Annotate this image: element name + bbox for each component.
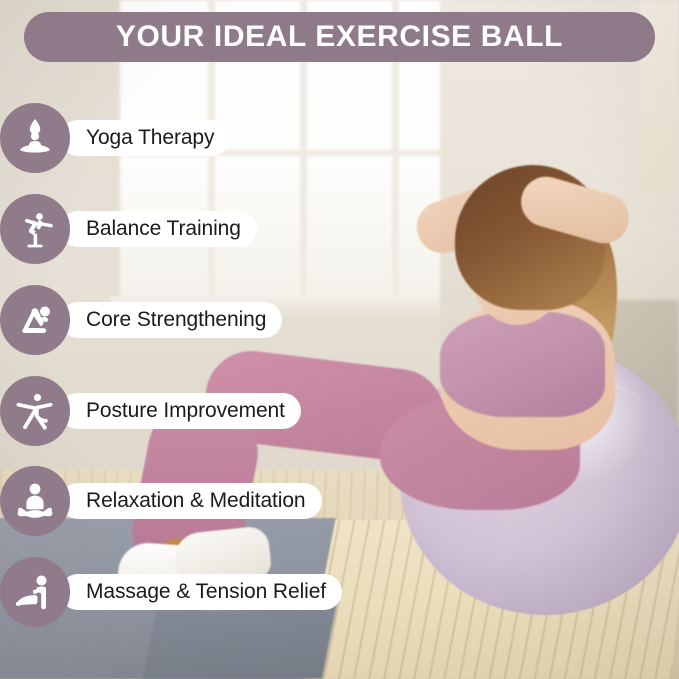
benefit-label: Relaxation & Meditation (86, 489, 306, 513)
benefit-label-pill: Massage & Tension Relief (60, 574, 342, 610)
page-title-banner: YOUR IDEAL EXERCISE BALL (24, 12, 655, 62)
dancer-balance-pose-icon (0, 194, 70, 264)
benefit-row-massage-tension-relief[interactable]: Massage & Tension Relief (0, 557, 342, 627)
benefit-row-relaxation-meditation[interactable]: Relaxation & Meditation (0, 466, 322, 536)
benefit-row-yoga-therapy[interactable]: Yoga Therapy (0, 103, 230, 173)
benefit-label-pill: Yoga Therapy (60, 120, 230, 156)
infographic-canvas: YOUR IDEAL EXERCISE BALL Yoga Therapy (0, 0, 679, 679)
benefit-label: Massage & Tension Relief (86, 580, 326, 604)
sit-up-crunch-icon (0, 285, 70, 355)
benefit-label: Posture Improvement (86, 399, 285, 423)
page-title: YOUR IDEAL EXERCISE BALL (116, 20, 563, 54)
benefit-label: Balance Training (86, 217, 241, 241)
benefit-label: Yoga Therapy (86, 126, 214, 150)
benefit-row-core-strengthening[interactable]: Core Strengthening (0, 285, 282, 355)
benefit-label-pill: Balance Training (60, 211, 257, 247)
benefit-label-pill: Posture Improvement (60, 393, 301, 429)
benefit-label: Core Strengthening (86, 308, 266, 332)
massage-therapy-icon (0, 557, 70, 627)
lotus-pose-icon (0, 103, 70, 173)
meditation-seated-icon (0, 466, 70, 536)
benefit-label-pill: Relaxation & Meditation (60, 483, 322, 519)
benefit-label-pill: Core Strengthening (60, 302, 282, 338)
benefit-row-balance-training[interactable]: Balance Training (0, 194, 257, 264)
warrior-pose-icon (0, 376, 70, 446)
benefit-row-posture-improvement[interactable]: Posture Improvement (0, 376, 301, 446)
